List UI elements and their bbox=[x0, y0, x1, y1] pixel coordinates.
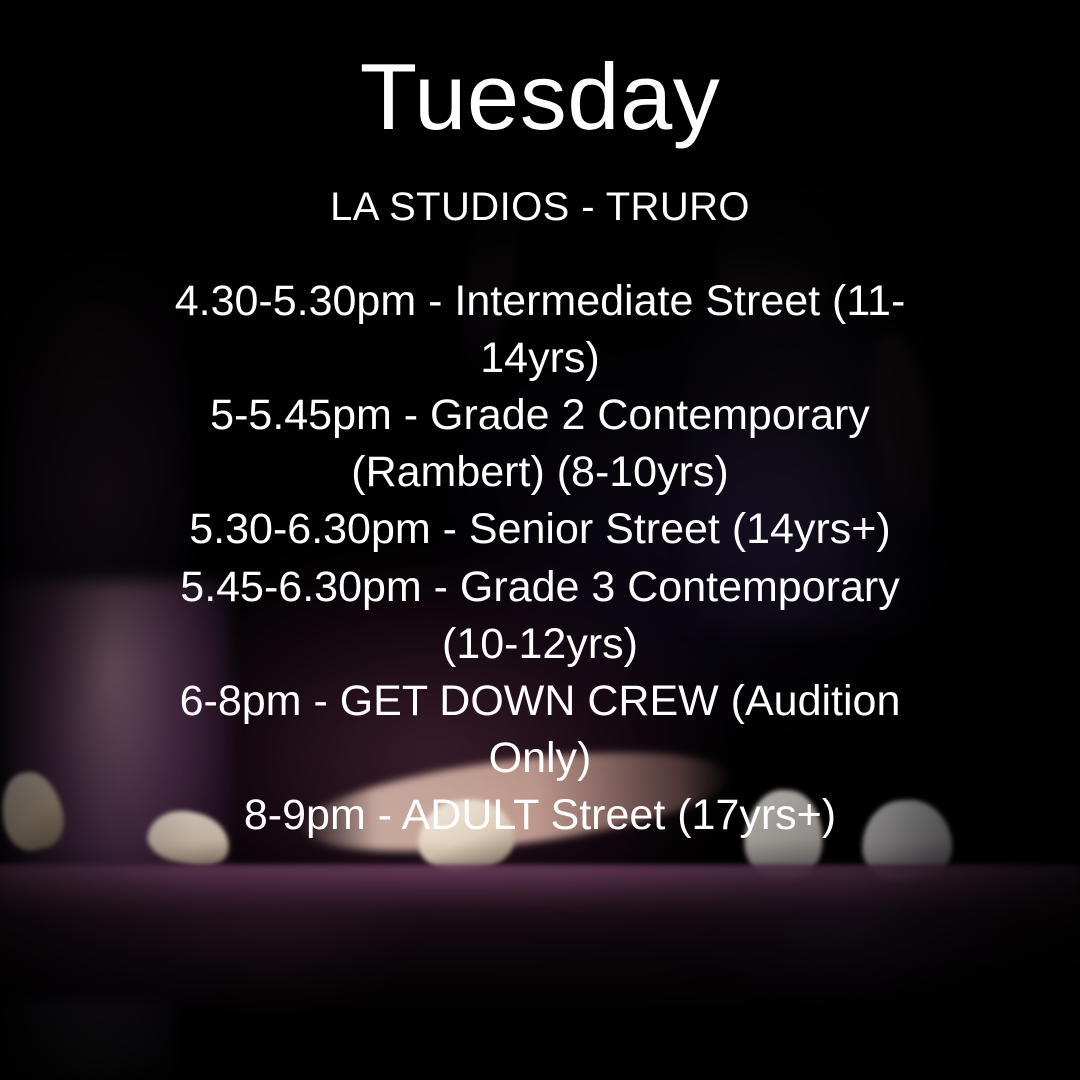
class-list-item: 8-9pm - ADULT Street (17yrs+) bbox=[140, 787, 940, 844]
poster-content: Tuesday LA STUDIOS - TRURO 4.30-5.30pm -… bbox=[0, 0, 1080, 1080]
class-list-item: 5.45-6.30pm - Grade 3 Contemporary (10-1… bbox=[140, 559, 940, 673]
class-schedule-list: 4.30-5.30pm - Intermediate Street (11-14… bbox=[140, 273, 940, 845]
schedule-poster: Tuesday LA STUDIOS - TRURO 4.30-5.30pm -… bbox=[0, 0, 1080, 1080]
class-list-item: 6-8pm - GET DOWN CREW (Audition Only) bbox=[140, 673, 940, 787]
page-title: Tuesday bbox=[360, 48, 721, 147]
class-list-item: 4.30-5.30pm - Intermediate Street (11-14… bbox=[140, 273, 940, 387]
class-list-item: 5.30-6.30pm - Senior Street (14yrs+) bbox=[140, 501, 940, 558]
class-list-item: 5-5.45pm - Grade 2 Contemporary (Rambert… bbox=[140, 387, 940, 501]
venue-label: LA STUDIOS - TRURO bbox=[330, 185, 750, 229]
